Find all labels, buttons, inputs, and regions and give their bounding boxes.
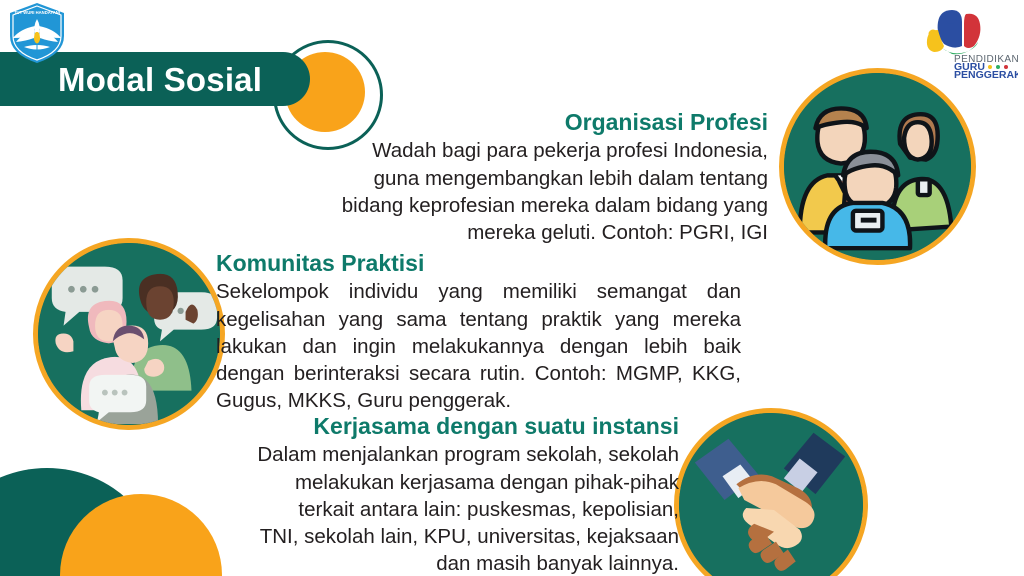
body-komunitas-praktisi: Sekelompok individu yang memiliki semang… (216, 278, 741, 414)
content-block-komunitas-praktisi: Komunitas Praktisi Sekelompok individu y… (216, 251, 741, 415)
content-block-organisasi-profesi: Organisasi Profesi Wadah bagi para peker… (330, 110, 768, 246)
heading-organisasi-profesi: Organisasi Profesi (330, 110, 768, 135)
body-kerjasama-instansi: Dalam menjalankan program sekolah, sekol… (255, 441, 679, 576)
group-of-professionals-icon (779, 68, 976, 265)
people-talking-speech-bubbles-icon (33, 238, 225, 430)
svg-text:TUT WURI HANDAYANI: TUT WURI HANDAYANI (14, 10, 60, 15)
tut-wuri-handayani-logo: TUT WURI HANDAYANI (6, 2, 68, 64)
page-title: Modal Sosial (58, 63, 262, 96)
heading-komunitas-praktisi: Komunitas Praktisi (216, 251, 741, 276)
pendidikan-guru-penggerak-logo: PENDIDIKAN GURU PENGGERAK (908, 4, 1018, 78)
content-block-kerjasama-instansi: Kerjasama dengan suatu instansi Dalam me… (255, 414, 679, 576)
slide-canvas: TUT WURI HANDAYANI PENDIDIKAN GURU P (0, 0, 1024, 576)
heading-kerjasama-instansi: Kerjasama dengan suatu instansi (255, 414, 679, 439)
handshake-icon (674, 408, 868, 576)
svg-text:PENGGERAK: PENGGERAK (954, 69, 1018, 78)
body-organisasi-profesi: Wadah bagi para pekerja profesi Indonesi… (330, 137, 768, 246)
